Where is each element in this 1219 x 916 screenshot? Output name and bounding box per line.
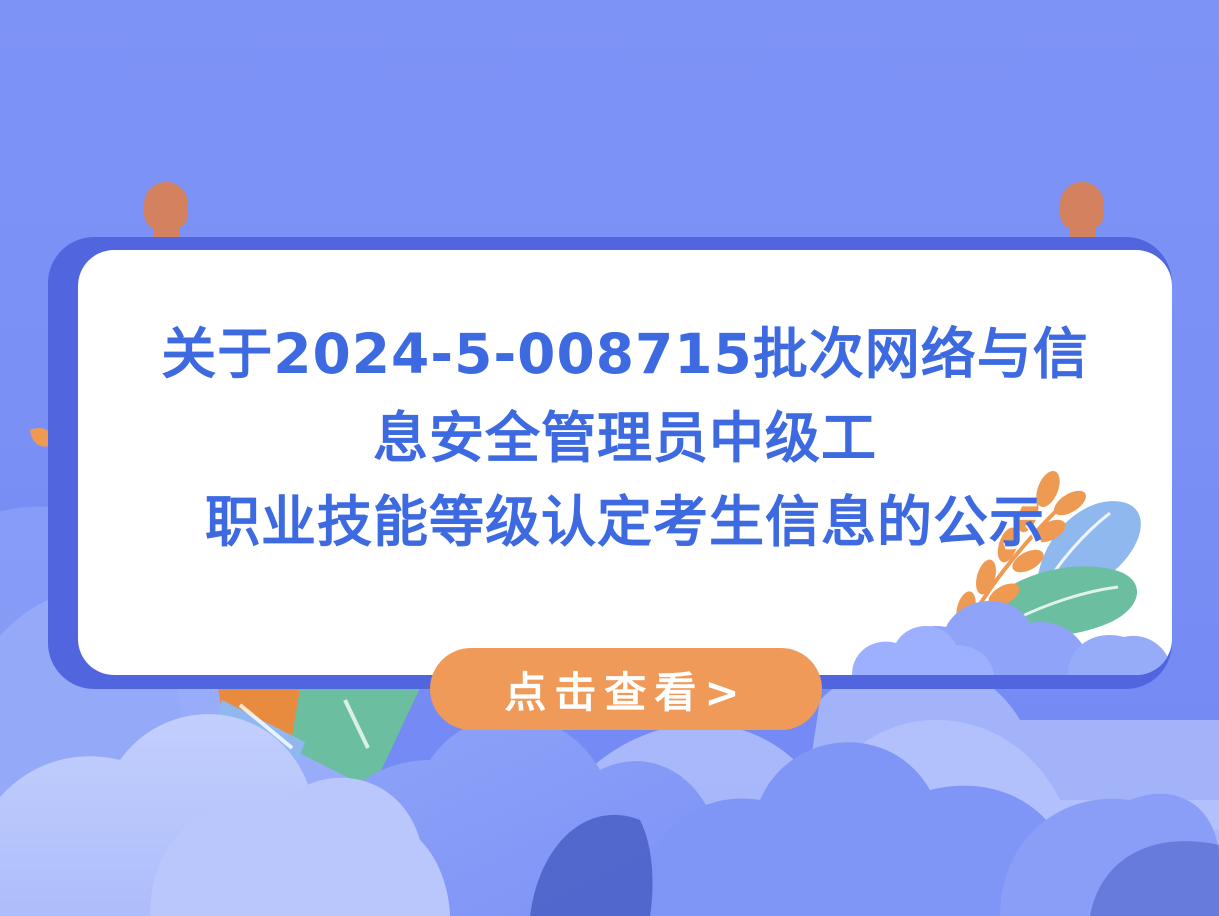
announcement-card-panel (78, 250, 1172, 675)
card-corner-decoration (852, 445, 1172, 675)
view-details-button-label: 点击查看> (504, 659, 747, 720)
view-details-button[interactable]: 点击查看> (430, 648, 822, 730)
banner-stage: 关于2024-5-008715批次网络与信 息安全管理员中级工 职业技能等级认定… (0, 0, 1219, 916)
